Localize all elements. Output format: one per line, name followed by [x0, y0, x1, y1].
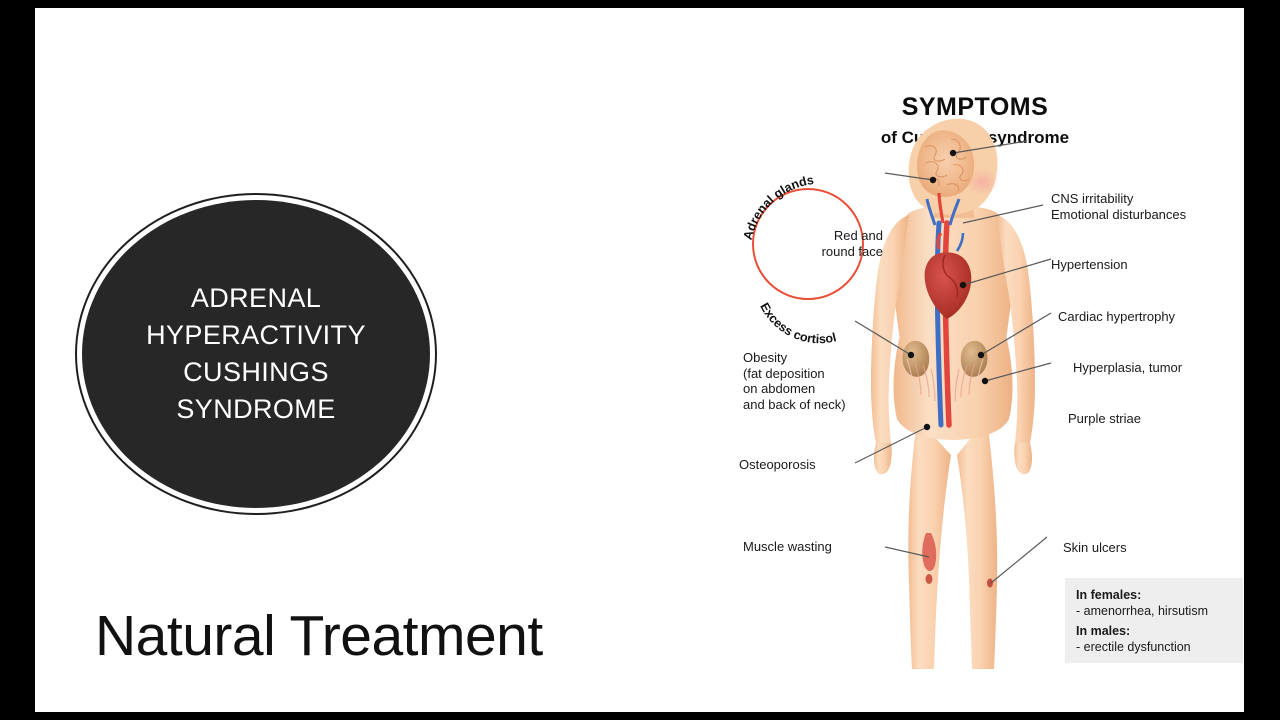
infobox-females-heading: In females: — [1076, 588, 1141, 602]
badge-line-3: CUSHINGS — [106, 354, 406, 391]
page-title: Natural Treatment — [95, 603, 543, 669]
letterbox-left — [0, 0, 35, 720]
label-cns-line-1: CNS irritability — [1051, 191, 1186, 207]
circle-badge: ADRENAL HYPERACTIVITY CUSHINGS SYNDROME — [75, 193, 445, 523]
badge-text-block: ADRENAL HYPERACTIVITY CUSHINGS SYNDROME — [106, 280, 406, 428]
label-obesity-line-4: and back of neck) — [743, 397, 846, 413]
label-cns-irritability: CNS irritability Emotional disturbances — [1051, 191, 1186, 222]
label-striae-line-1: Purple striae — [1068, 411, 1141, 427]
label-hyperplasia-line-1: Hyperplasia, tumor — [1073, 360, 1182, 376]
label-cns-line-2: Emotional disturbances — [1051, 207, 1186, 223]
slide-canvas: ADRENAL HYPERACTIVITY CUSHINGS SYNDROME … — [0, 0, 1280, 720]
label-muscle-wasting-line-1: Muscle wasting — [743, 539, 832, 555]
badge-line-1: ADRENAL — [106, 280, 406, 317]
badge-fill: ADRENAL HYPERACTIVITY CUSHINGS SYNDROME — [82, 200, 430, 508]
badge-line-4: SYNDROME — [106, 391, 406, 428]
label-cardiac-line-1: Cardiac hypertrophy — [1058, 309, 1175, 325]
label-obesity-line-3: on abdomen — [743, 381, 846, 397]
badge-line-2: HYPERACTIVITY — [106, 317, 406, 354]
label-osteoporosis: Osteoporosis — [739, 457, 816, 473]
label-purple-striae: Purple striae — [1068, 411, 1141, 427]
label-obesity-line-2: (fat deposition — [743, 366, 846, 382]
label-face-line-1: Red and — [735, 228, 883, 244]
label-hypertension: Hypertension — [1051, 257, 1128, 273]
infobox-males-heading: In males: — [1076, 624, 1130, 638]
label-obesity-line-1: Obesity — [743, 350, 846, 366]
label-red-round-face: Red and round face — [735, 228, 883, 259]
label-osteoporosis-line-1: Osteoporosis — [739, 457, 816, 473]
label-hyperplasia-tumor: Hyperplasia, tumor — [1073, 360, 1182, 376]
label-muscle-wasting: Muscle wasting — [743, 539, 832, 555]
sex-specific-symptoms-box: In females: - amenorrhea, hirsutism In m… — [1065, 578, 1243, 663]
label-skin-ulcers-line-1: Skin ulcers — [1063, 540, 1127, 556]
label-cardiac-hypertrophy: Cardiac hypertrophy — [1058, 309, 1175, 325]
infobox-females-text: - amenorrhea, hirsutism — [1076, 603, 1232, 619]
symptoms-diagram: SYMPTOMS of Cushing's syndrome — [695, 63, 1255, 683]
slide-content: ADRENAL HYPERACTIVITY CUSHINGS SYNDROME … — [35, 8, 1244, 712]
label-skin-ulcers: Skin ulcers — [1063, 540, 1127, 556]
label-obesity: Obesity (fat deposition on abdomen and b… — [743, 350, 846, 412]
label-hypertension-line-1: Hypertension — [1051, 257, 1128, 273]
letterbox-bottom — [0, 712, 1280, 720]
infobox-males-text: - erectile dysfunction — [1076, 639, 1232, 655]
letterbox-top — [0, 0, 1280, 8]
label-face-line-2: round face — [735, 244, 883, 260]
